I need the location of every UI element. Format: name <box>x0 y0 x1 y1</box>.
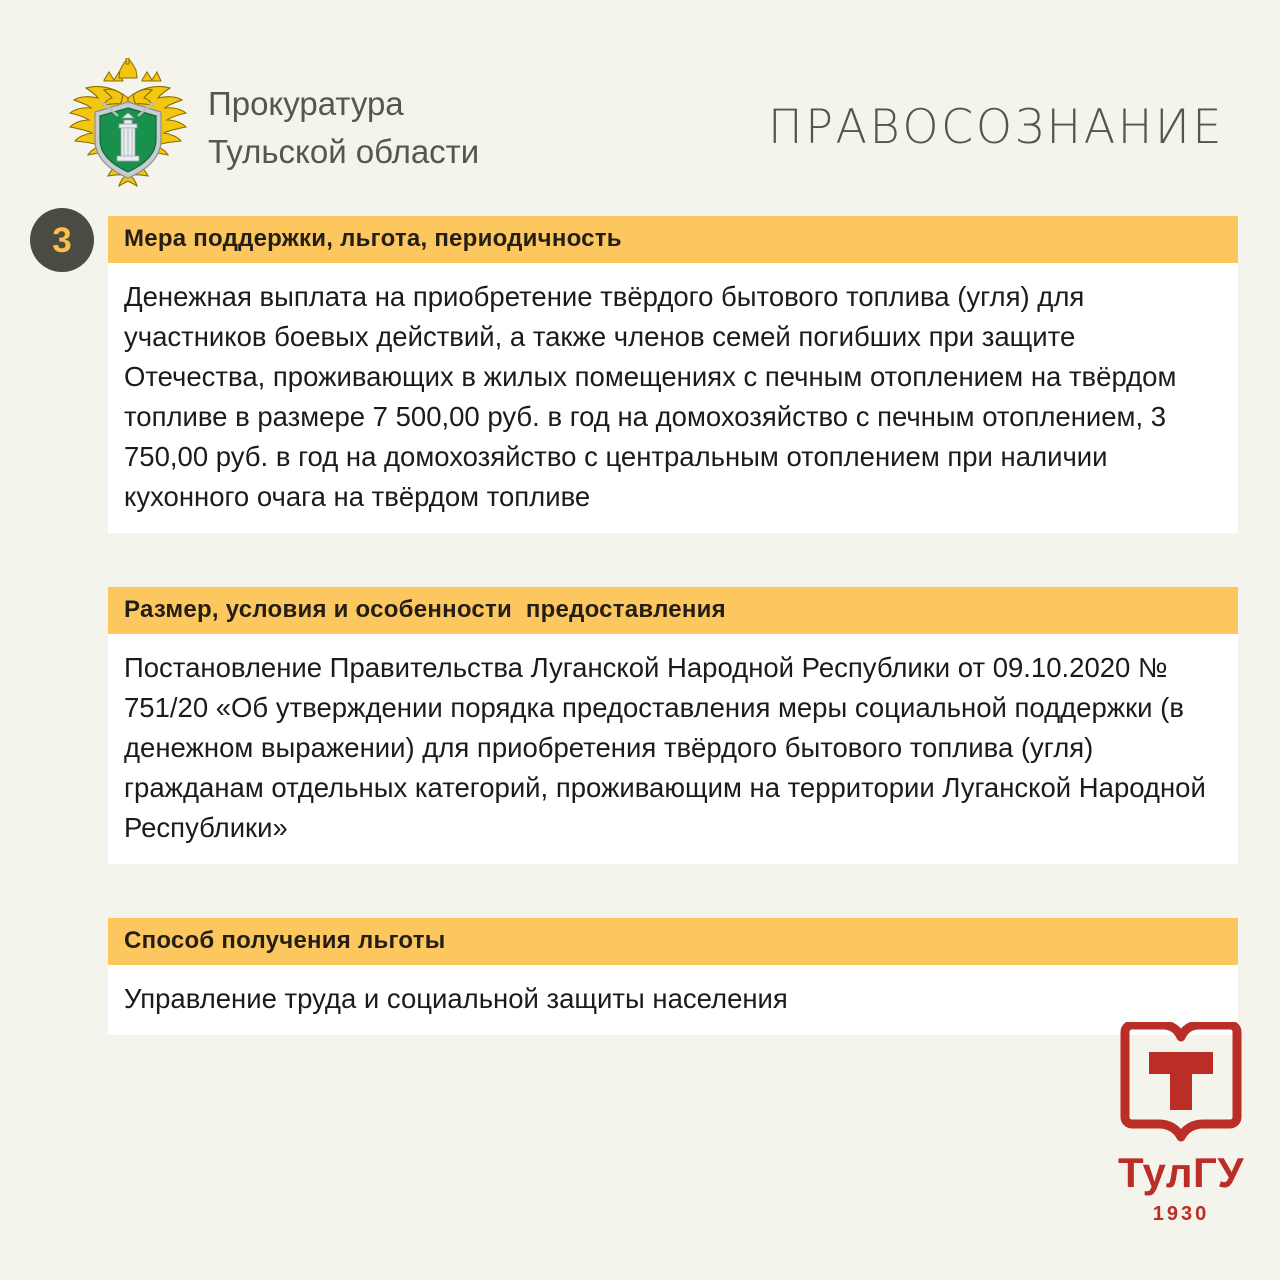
block-heading: Мера поддержки, льгота, периодичность <box>108 216 1238 263</box>
info-block: Мера поддержки, льгота, периодичность Де… <box>108 216 1238 533</box>
organization-name: Прокуратура Тульской области <box>208 80 479 176</box>
block-body: Постановление Правительства Луганской На… <box>108 634 1238 864</box>
info-block: Способ получения льготы Управление труда… <box>108 918 1238 1035</box>
block-heading: Способ получения льготы <box>108 918 1238 965</box>
info-block: Размер, условия и особенности предоставл… <box>108 587 1238 864</box>
page-title: ПРАВОСОЗНАНИЕ <box>768 98 1224 155</box>
block-body-text: Управление труда и социальной защиты нас… <box>124 979 1222 1019</box>
tulgu-open-book-icon <box>1117 1022 1245 1146</box>
prosecutor-emblem-icon <box>62 58 194 190</box>
block-body-text: Постановление Правительства Луганской На… <box>124 648 1222 848</box>
content-blocks: Мера поддержки, льгота, периодичность Де… <box>108 216 1238 1035</box>
block-body-text: Денежная выплата на приобретение твёрдог… <box>124 277 1222 517</box>
block-body: Управление труда и социальной защиты нас… <box>108 965 1238 1035</box>
tulgu-year: 1930 <box>1106 1202 1256 1226</box>
block-body: Денежная выплата на приобретение твёрдог… <box>108 263 1238 533</box>
block-heading: Размер, условия и особенности предоставл… <box>108 587 1238 634</box>
page-header: Прокуратура Тульской области ПРАВОСОЗНАН… <box>0 0 1280 200</box>
tulgu-logo: ТулГУ 1930 <box>1106 1022 1256 1228</box>
tulgu-wordmark: ТулГУ <box>1106 1150 1256 1196</box>
slide-number-badge: 3 <box>30 208 94 272</box>
